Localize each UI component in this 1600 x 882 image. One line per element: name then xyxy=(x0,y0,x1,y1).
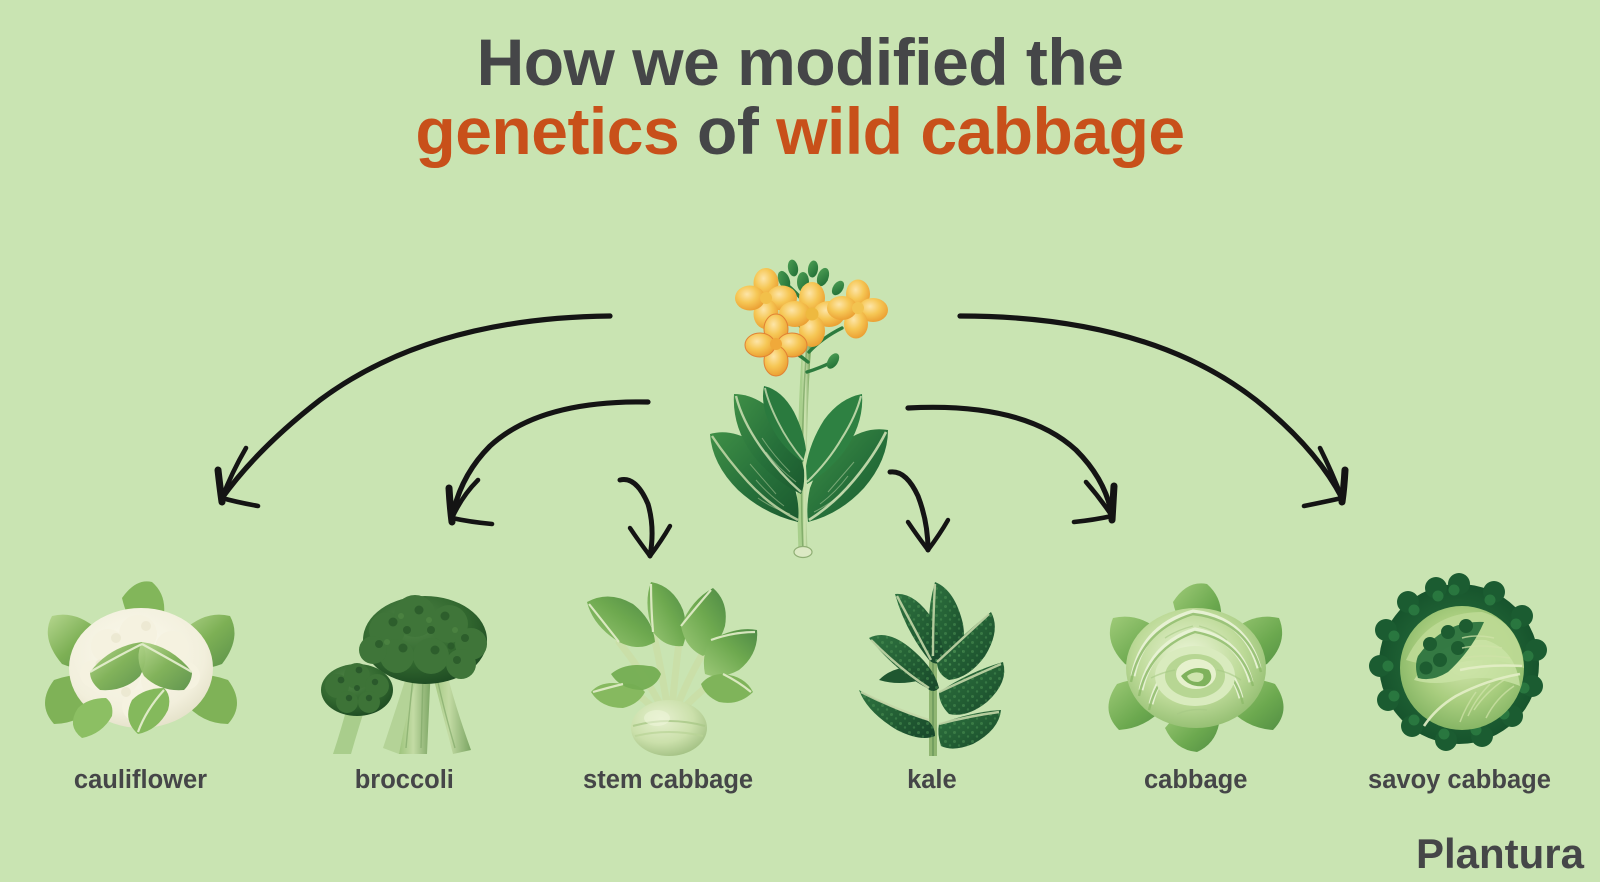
page-title: How we modified the genetics of wild cab… xyxy=(0,28,1600,165)
title-word-of: of xyxy=(679,94,776,168)
variety-item-broccoli[interactable]: broccoli xyxy=(282,568,527,795)
variety-row: cauliflower xyxy=(0,545,1600,795)
variety-item-stem-cabbage[interactable]: stem cabbage xyxy=(546,568,791,795)
variety-item-kale[interactable]: kale xyxy=(809,568,1054,795)
variety-label: kale xyxy=(907,766,957,795)
savoy-cabbage-illustration xyxy=(1344,568,1574,758)
brand-logo: Plantura xyxy=(1416,830,1584,878)
arrow-to-broccoli xyxy=(449,402,648,524)
arrow-to-savoy-cabbage xyxy=(960,316,1345,506)
cauliflower-illustration xyxy=(26,568,256,758)
variety-label: broccoli xyxy=(355,766,454,795)
title-word-wild-cabbage: wild cabbage xyxy=(776,94,1184,168)
title-word-genetics: genetics xyxy=(415,94,679,168)
title-line-1: How we modified the xyxy=(0,28,1600,97)
arrow-group xyxy=(0,260,1600,580)
variety-label: stem cabbage xyxy=(583,766,753,795)
variety-item-cauliflower[interactable]: cauliflower xyxy=(18,568,263,795)
variety-label: cauliflower xyxy=(74,766,207,795)
variety-item-cabbage[interactable]: cabbage xyxy=(1073,568,1318,795)
kale-illustration xyxy=(817,568,1047,758)
variety-item-savoy-cabbage[interactable]: savoy cabbage xyxy=(1337,568,1582,795)
variety-label: cabbage xyxy=(1144,766,1247,795)
kohlrabi-illustration xyxy=(553,568,783,758)
arrow-to-kale xyxy=(890,472,948,550)
infographic-canvas: How we modified the genetics of wild cab… xyxy=(0,0,1600,882)
title-line-2: genetics of wild cabbage xyxy=(0,97,1600,166)
arrow-to-cabbage xyxy=(908,407,1114,522)
broccoli-illustration xyxy=(289,568,519,758)
cabbage-illustration xyxy=(1081,568,1311,758)
variety-label: savoy cabbage xyxy=(1368,766,1551,795)
